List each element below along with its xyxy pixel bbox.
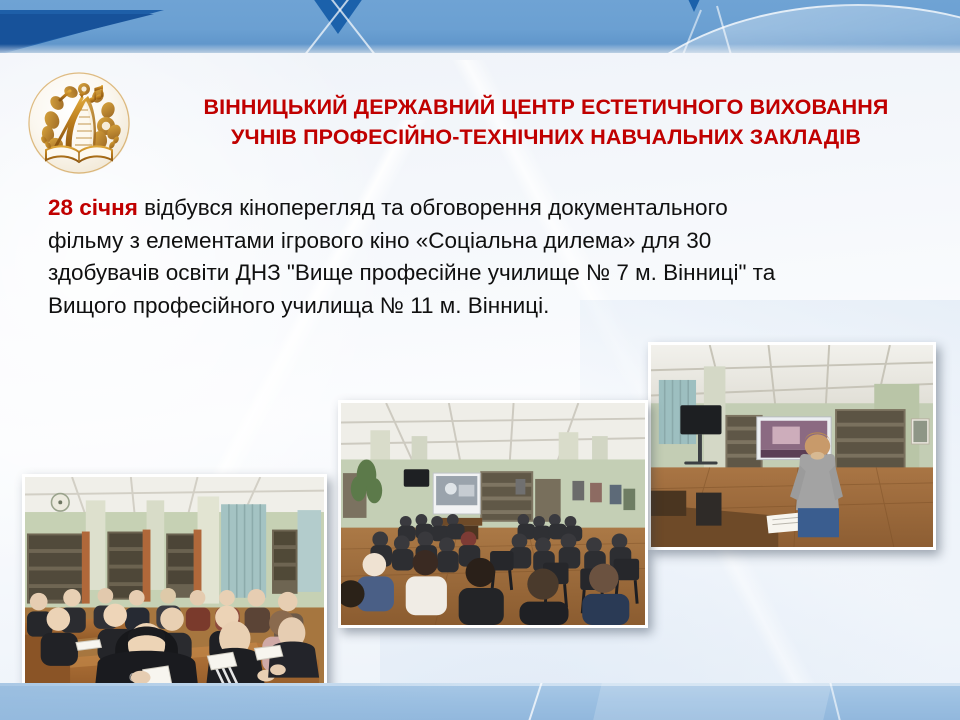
body-line-2: фільму з елементами ігрового кіно «Соціа… <box>48 225 928 258</box>
body-line-1: 28 січня відбувся кіноперегляд та обгово… <box>48 192 928 225</box>
photo-students[interactable]: CALV <box>22 474 327 702</box>
photo-audience[interactable] <box>338 400 648 628</box>
event-date: 28 січня <box>48 195 138 220</box>
top-banner <box>0 0 960 53</box>
slide-body-text: 28 січня відбувся кіноперегляд та обгово… <box>48 192 928 322</box>
banner-chevron-right <box>672 0 716 12</box>
bottom-banner-line-a <box>504 683 562 720</box>
body-line-1-rest: відбувся кіноперегляд та обговорення док… <box>138 195 728 220</box>
body-line-4: Вищого професійного училища № 11 м. Вінн… <box>48 290 928 323</box>
title-line-2: УЧНІВ ПРОФЕСІЙНО-ТЕХНІЧНИХ НАВЧАЛЬНИХ ЗА… <box>140 122 952 152</box>
slide-canvas: ВІННИЦЬКИЙ ДЕРЖАВНИЙ ЦЕНТР ЕСТЕТИЧНОГО В… <box>0 0 960 720</box>
organization-emblem-icon <box>26 70 132 176</box>
bottom-banner-pane <box>588 683 834 720</box>
slide-title: ВІННИЦЬКИЙ ДЕРЖАВНИЙ ЦЕНТР ЕСТЕТИЧНОГО В… <box>140 92 952 152</box>
title-line-1: ВІННИЦЬКИЙ ДЕРЖАВНИЙ ЦЕНТР ЕСТЕТИЧНОГО В… <box>140 92 952 122</box>
bottom-banner <box>0 683 960 720</box>
photo-speaker[interactable] <box>648 342 936 550</box>
banner-bottom-fade <box>0 44 960 53</box>
bottom-banner-fade <box>0 683 470 720</box>
body-line-3: здобувачів освіти ДНЗ "Вище професійне у… <box>48 257 928 290</box>
